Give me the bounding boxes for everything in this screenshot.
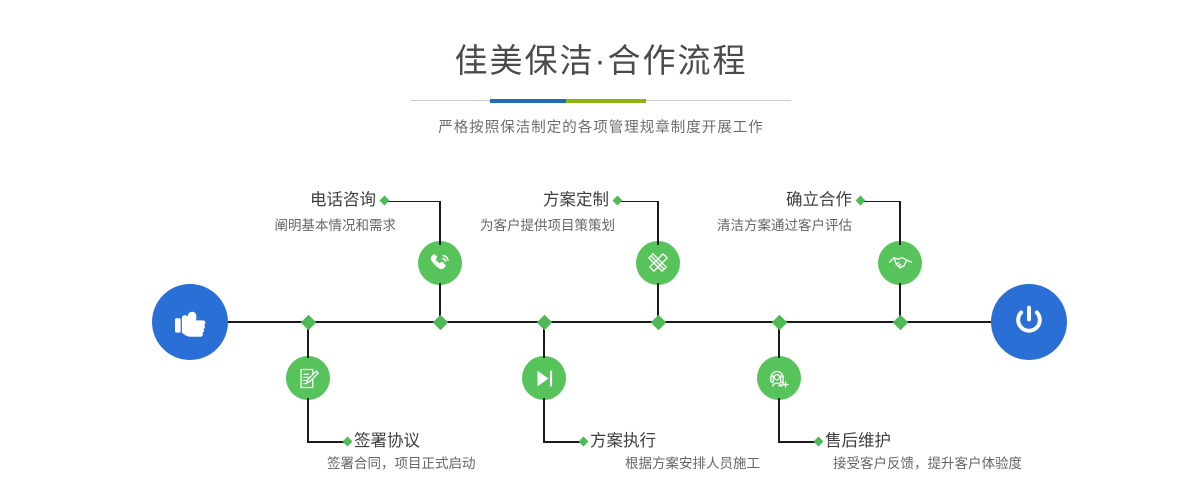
branch-marker-bottom-3 <box>814 437 824 447</box>
step-icon-top-3[interactable] <box>878 241 922 285</box>
branch-marker-bottom-1 <box>343 437 353 447</box>
step-title-top-3: 确立合作 <box>719 192 852 209</box>
process-flow-diagram: 电话咨询 阐明基本情况和需求 方案定制 为客户提供项目策策划 <box>0 0 1202 502</box>
play-execute-icon <box>532 366 557 391</box>
step-icon-bottom-1[interactable] <box>286 356 330 400</box>
axis-marker-bottom-1 <box>300 314 316 330</box>
handshake-icon <box>887 250 914 277</box>
branch-marker-top-1 <box>380 196 390 206</box>
step-desc-top-2: 为客户提供项目策策划 <box>395 219 615 233</box>
pencil-design-icon <box>645 250 671 276</box>
step-title-bottom-2: 方案执行 <box>590 433 750 450</box>
axis-marker-top-1 <box>432 314 448 330</box>
branch-line-bottom-1-horizontal <box>307 441 346 443</box>
phone-call-icon <box>427 250 453 276</box>
step-desc-top-3: 清洁方案通过客户评估 <box>631 219 852 233</box>
pointing-hand-icon <box>170 302 210 342</box>
step-title-top-2: 方案定制 <box>476 192 609 209</box>
step-title-bottom-3: 售后维护 <box>825 433 995 450</box>
branch-line-bottom-2-horizontal <box>543 441 582 443</box>
branch-line-bottom-2-vertical <box>543 398 545 442</box>
branch-line-top-2-horizontal <box>620 201 658 203</box>
axis-marker-bottom-3 <box>771 314 787 330</box>
step-icon-top-2[interactable] <box>636 241 680 285</box>
step-desc-bottom-3: 接受客户反馈，提升客户体验度 <box>833 457 1093 471</box>
branch-line-bottom-1-vertical <box>307 398 309 442</box>
branch-marker-top-2 <box>613 196 623 206</box>
document-sign-icon <box>296 366 321 391</box>
branch-marker-top-3 <box>856 196 866 206</box>
axis-marker-bottom-2 <box>536 314 552 330</box>
branch-line-top-3-horizontal <box>863 201 900 203</box>
axis-marker-top-3 <box>892 314 908 330</box>
branch-marker-bottom-2 <box>579 437 589 447</box>
step-desc-bottom-2: 根据方案安排人员施工 <box>625 457 855 471</box>
step-desc-bottom-1: 签署合同，项目正式启动 <box>327 457 557 471</box>
step-icon-bottom-3[interactable] <box>757 356 801 400</box>
step-title-bottom-1: 签署协议 <box>354 433 514 450</box>
power-icon <box>1008 301 1050 343</box>
headset-support-icon <box>766 365 792 391</box>
step-icon-top-1[interactable] <box>418 241 462 285</box>
branch-line-bottom-3-horizontal <box>778 441 817 443</box>
step-title-top-1: 电话咨询 <box>243 192 376 209</box>
step-desc-top-1: 阐明基本情况和需求 <box>176 219 396 233</box>
step-icon-bottom-2[interactable] <box>522 356 566 400</box>
flow-chart-page: 佳美保洁·合作流程 严格按照保洁制定的各项管理规章制度开展工作 <box>0 0 1202 502</box>
axis-marker-top-2 <box>650 314 666 330</box>
branch-line-bottom-3-vertical <box>778 398 780 442</box>
flow-start-node[interactable] <box>152 284 228 360</box>
flow-end-node[interactable] <box>991 284 1067 360</box>
branch-line-top-1-horizontal <box>387 201 440 203</box>
branch-line-top-3-vertical <box>899 201 901 245</box>
